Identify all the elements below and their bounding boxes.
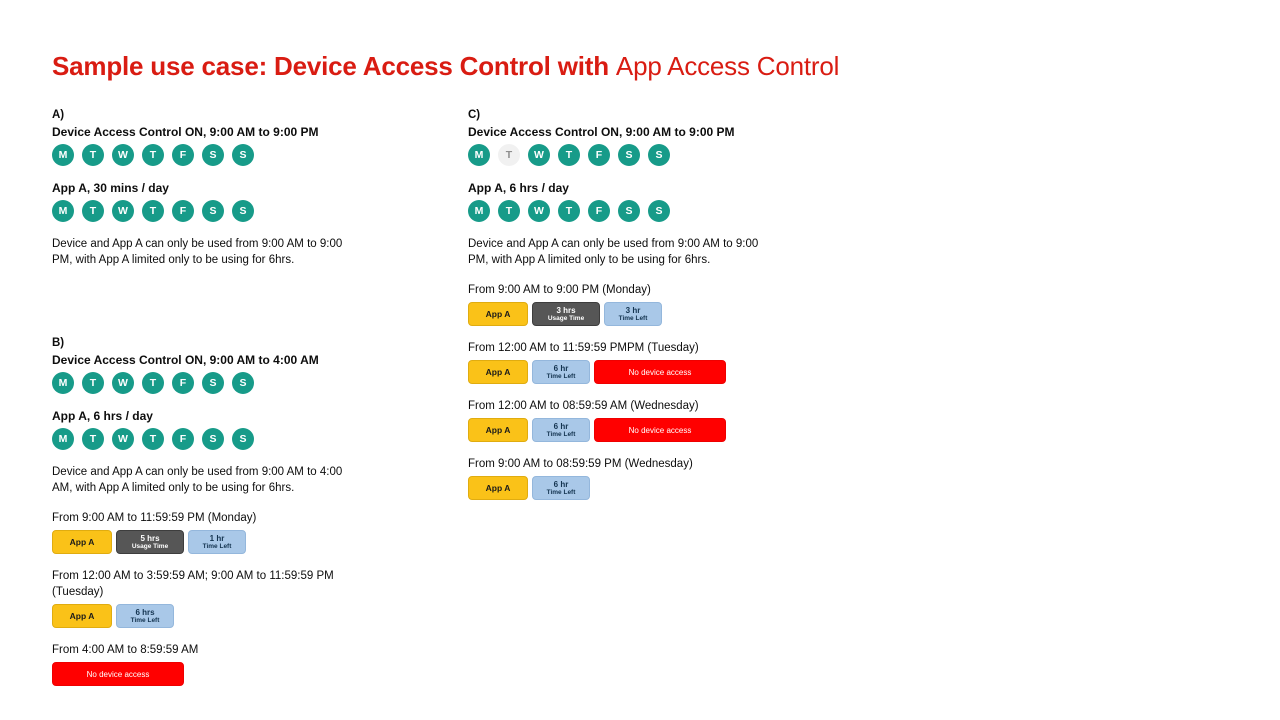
day-toggle-app-3[interactable]: T [558, 200, 580, 222]
timeline-group: From 12:00 AM to 08:59:59 AM (Wednesday)… [468, 398, 868, 442]
timeline-bar-left: 6 hrTime Left [532, 418, 590, 442]
bar-secondary-label: Time Left [619, 315, 648, 323]
bar-primary-label: 6 hrs [135, 608, 154, 617]
section-letter: A) [52, 108, 452, 123]
bar-primary-label: App A [486, 310, 511, 319]
bar-secondary-label: Usage Time [548, 315, 584, 323]
day-label: W [118, 206, 128, 217]
day-toggle-device-6[interactable]: S [648, 144, 670, 166]
day-label: T [150, 150, 156, 161]
bar-primary-label: App A [486, 368, 511, 377]
page-title-light: App Access Control [616, 51, 839, 81]
day-toggle-app-4[interactable]: F [588, 200, 610, 222]
day-toggle-device-5[interactable]: S [202, 372, 224, 394]
bar-primary-label: App A [486, 426, 511, 435]
day-toggle-device-3[interactable]: T [142, 144, 164, 166]
timeline-bar-row: App A5 hrsUsage Time1 hrTime Left [52, 530, 452, 554]
day-label: S [209, 378, 216, 389]
day-toggle-app-5[interactable]: S [618, 200, 640, 222]
day-label: T [506, 206, 512, 217]
bar-primary-label: 3 hrs [556, 306, 575, 315]
timeline-bar-left: 3 hrTime Left [604, 302, 662, 326]
bar-secondary-label: Time Left [203, 543, 232, 551]
timeline-bar-row: App A6 hrTime Left [468, 476, 868, 500]
timeline-caption: From 12:00 AM to 08:59:59 AM (Wednesday) [468, 398, 788, 414]
day-toggle-device-2[interactable]: W [528, 144, 550, 166]
column-spacer [52, 268, 452, 336]
day-label: S [239, 206, 246, 217]
day-toggle-device-6[interactable]: S [232, 372, 254, 394]
day-toggle-app-2[interactable]: W [528, 200, 550, 222]
day-toggle-device-2[interactable]: W [112, 144, 134, 166]
day-label: T [90, 206, 96, 217]
timeline-bar-usage: 5 hrsUsage Time [116, 530, 184, 554]
day-label: M [59, 434, 68, 445]
day-selector-app: MTWTFSS [52, 428, 452, 450]
timeline-bar-left: 6 hrTime Left [532, 360, 590, 384]
day-toggle-app-6[interactable]: S [232, 200, 254, 222]
day-label: S [655, 150, 662, 161]
bar-primary-label: 1 hr [210, 534, 225, 543]
day-toggle-app-1[interactable]: T [82, 428, 104, 450]
day-toggle-device-5[interactable]: S [618, 144, 640, 166]
bar-primary-label: 6 hr [554, 422, 569, 431]
day-toggle-app-3[interactable]: T [142, 200, 164, 222]
day-toggle-device-5[interactable]: S [202, 144, 224, 166]
day-label: T [150, 206, 156, 217]
bar-primary-label: 6 hr [554, 480, 569, 489]
day-label: M [59, 378, 68, 389]
bar-primary-label: No device access [629, 426, 692, 435]
day-label: T [566, 206, 572, 217]
day-toggle-device-0[interactable]: M [52, 372, 74, 394]
day-toggle-app-0[interactable]: M [52, 200, 74, 222]
day-label: S [239, 378, 246, 389]
day-selector-device: MTWTFSS [52, 144, 452, 166]
bar-primary-label: 6 hr [554, 364, 569, 373]
section-b: B)Device Access Control ON, 9:00 AM to 4… [52, 336, 452, 686]
day-selector-device: MTWTFSS [468, 144, 868, 166]
day-label: F [596, 206, 602, 217]
day-toggle-app-6[interactable]: S [648, 200, 670, 222]
left-column: A)Device Access Control ON, 9:00 AM to 9… [52, 108, 452, 686]
day-label: M [475, 150, 484, 161]
bar-secondary-label: Usage Time [132, 543, 168, 551]
device-access-rule-label: Device Access Control ON, 9:00 AM to 9:0… [468, 124, 868, 140]
day-toggle-app-1[interactable]: T [498, 200, 520, 222]
day-toggle-device-2[interactable]: W [112, 372, 134, 394]
timeline-bar-app: App A [52, 530, 112, 554]
timeline-group: From 12:00 AM to 3:59:59 AM; 9:00 AM to … [52, 568, 452, 628]
timeline-bar-app: App A [468, 302, 528, 326]
bar-primary-label: App A [486, 484, 511, 493]
bar-primary-label: 5 hrs [140, 534, 159, 543]
day-label: S [209, 434, 216, 445]
day-label: T [150, 378, 156, 389]
app-access-rule-label: App A, 30 mins / day [52, 180, 452, 196]
bar-secondary-label: Time Left [131, 617, 160, 625]
day-label: T [566, 150, 572, 161]
section-description: Device and App A can only be used from 9… [468, 236, 768, 268]
section-c: C)Device Access Control ON, 9:00 AM to 9… [468, 108, 868, 500]
timeline-caption: From 12:00 AM to 3:59:59 AM; 9:00 AM to … [52, 568, 372, 600]
day-toggle-app-5[interactable]: S [202, 428, 224, 450]
day-toggle-app-0[interactable]: M [52, 428, 74, 450]
timeline-bar-app: App A [468, 360, 528, 384]
day-toggle-device-1[interactable]: T [82, 144, 104, 166]
bar-primary-label: 3 hr [626, 306, 641, 315]
app-access-rule-label: App A, 6 hrs / day [468, 180, 868, 196]
timeline-caption: From 9:00 AM to 9:00 PM (Monday) [468, 282, 788, 298]
day-selector-app: MTWTFSS [52, 200, 452, 222]
timeline-bar-left: 6 hrTime Left [532, 476, 590, 500]
day-label: F [596, 150, 602, 161]
day-label: S [655, 206, 662, 217]
day-label: W [534, 206, 544, 217]
section-letter: B) [52, 336, 452, 351]
timeline-bar-row: App A6 hrsTime Left [52, 604, 452, 628]
timeline-group: From 9:00 AM to 11:59:59 PM (Monday)App … [52, 510, 452, 554]
timeline-bar-usage: 3 hrsUsage Time [532, 302, 600, 326]
section-description: Device and App A can only be used from 9… [52, 464, 352, 496]
day-toggle-device-6[interactable]: S [232, 144, 254, 166]
bar-secondary-label: Time Left [547, 489, 576, 497]
timeline-group: From 12:00 AM to 11:59:59 PMPM (Tuesday)… [468, 340, 868, 384]
timeline-caption: From 9:00 AM to 08:59:59 PM (Wednesday) [468, 456, 788, 472]
day-label: S [625, 150, 632, 161]
timeline-bar-row: App A3 hrsUsage Time3 hrTime Left [468, 302, 868, 326]
day-label: S [209, 206, 216, 217]
day-label: W [118, 150, 128, 161]
day-toggle-device-1[interactable]: T [82, 372, 104, 394]
day-toggle-app-5[interactable]: S [202, 200, 224, 222]
day-toggle-app-6[interactable]: S [232, 428, 254, 450]
bar-secondary-label: Time Left [547, 431, 576, 439]
right-column: C)Device Access Control ON, 9:00 AM to 9… [468, 108, 868, 500]
page-title: Sample use case: Device Access Control w… [52, 49, 839, 83]
day-toggle-app-3[interactable]: T [142, 428, 164, 450]
timeline-bar-left: 1 hrTime Left [188, 530, 246, 554]
bar-primary-label: App A [70, 612, 95, 621]
day-selector-app: MTWTFSS [468, 200, 868, 222]
day-label: F [180, 150, 186, 161]
day-label: M [59, 206, 68, 217]
timeline-bar-noaccess: No device access [594, 360, 726, 384]
day-toggle-device-0[interactable]: M [468, 144, 490, 166]
day-label: S [209, 150, 216, 161]
day-toggle-device-1[interactable]: T [498, 144, 520, 166]
day-label: T [150, 434, 156, 445]
bar-primary-label: App A [70, 538, 95, 547]
page-title-bold: Sample use case: Device Access Control w… [52, 51, 616, 81]
device-access-rule-label: Device Access Control ON, 9:00 AM to 4:0… [52, 352, 452, 368]
day-label: F [180, 378, 186, 389]
timeline-bar-row: No device access [52, 662, 452, 686]
day-toggle-device-4[interactable]: F [588, 144, 610, 166]
app-access-rule-label: App A, 6 hrs / day [52, 408, 452, 424]
day-label: W [534, 150, 544, 161]
day-label: S [239, 150, 246, 161]
timeline-bar-left: 6 hrsTime Left [116, 604, 174, 628]
timeline-bar-app: App A [468, 418, 528, 442]
day-toggle-device-0[interactable]: M [52, 144, 74, 166]
timeline-caption: From 12:00 AM to 11:59:59 PMPM (Tuesday) [468, 340, 788, 356]
day-toggle-app-2[interactable]: W [112, 200, 134, 222]
day-toggle-device-4[interactable]: F [172, 372, 194, 394]
day-label: T [506, 150, 512, 161]
day-toggle-device-4[interactable]: F [172, 144, 194, 166]
day-label: M [59, 150, 68, 161]
device-access-rule-label: Device Access Control ON, 9:00 AM to 9:0… [52, 124, 452, 140]
day-label: M [475, 206, 484, 217]
day-label: T [90, 434, 96, 445]
day-toggle-app-4[interactable]: F [172, 200, 194, 222]
day-label: S [625, 206, 632, 217]
bar-primary-label: No device access [87, 670, 150, 679]
timeline-bar-row: App A6 hrTime LeftNo device access [468, 418, 868, 442]
day-label: W [118, 378, 128, 389]
day-selector-device: MTWTFSS [52, 372, 452, 394]
day-toggle-app-0[interactable]: M [468, 200, 490, 222]
timeline-group: From 9:00 AM to 9:00 PM (Monday)App A3 h… [468, 282, 868, 326]
timeline-group: From 9:00 AM to 08:59:59 PM (Wednesday)A… [468, 456, 868, 500]
day-label: F [180, 206, 186, 217]
section-description: Device and App A can only be used from 9… [52, 236, 352, 268]
section-a: A)Device Access Control ON, 9:00 AM to 9… [52, 108, 452, 268]
section-letter: C) [468, 108, 868, 123]
bar-secondary-label: Time Left [547, 373, 576, 381]
timeline-group: From 4:00 AM to 8:59:59 AMNo device acce… [52, 642, 452, 686]
timeline-bar-app: App A [468, 476, 528, 500]
day-label: S [239, 434, 246, 445]
timeline-bar-noaccess: No device access [594, 418, 726, 442]
timeline-caption: From 9:00 AM to 11:59:59 PM (Monday) [52, 510, 372, 526]
timeline-bar-row: App A6 hrTime LeftNo device access [468, 360, 868, 384]
day-label: T [90, 150, 96, 161]
timeline-caption: From 4:00 AM to 8:59:59 AM [52, 642, 372, 658]
day-toggle-device-3[interactable]: T [558, 144, 580, 166]
timeline-bar-app: App A [52, 604, 112, 628]
bar-primary-label: No device access [629, 368, 692, 377]
timeline-bar-noaccess: No device access [52, 662, 184, 686]
day-toggle-app-4[interactable]: F [172, 428, 194, 450]
day-label: W [118, 434, 128, 445]
day-toggle-app-2[interactable]: W [112, 428, 134, 450]
day-toggle-app-1[interactable]: T [82, 200, 104, 222]
day-label: T [90, 378, 96, 389]
day-label: F [180, 434, 186, 445]
day-toggle-device-3[interactable]: T [142, 372, 164, 394]
